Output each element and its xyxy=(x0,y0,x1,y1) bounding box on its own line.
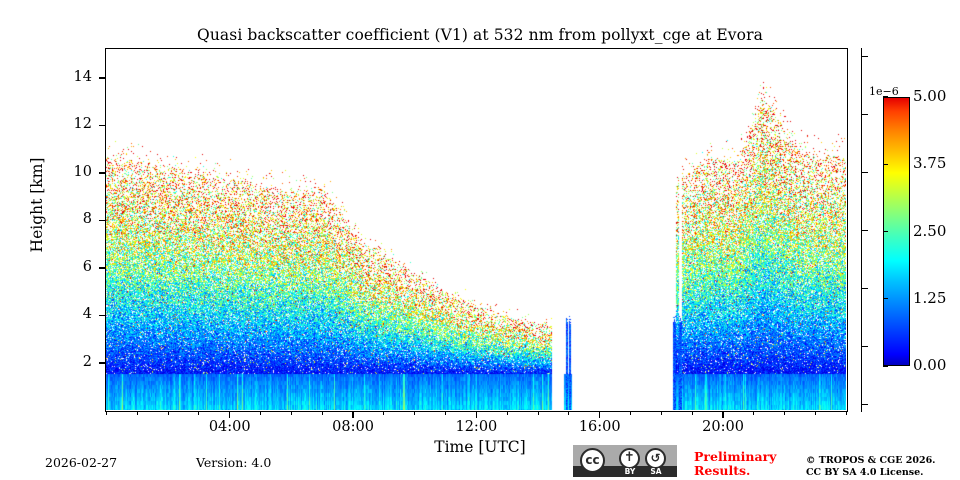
x-tick-minor xyxy=(661,411,662,415)
y-tick-major xyxy=(99,315,106,316)
x-tick-minor xyxy=(383,411,384,415)
colorbar-tick xyxy=(883,96,888,97)
y-tick-label: 4 xyxy=(52,306,92,322)
colorbar-outer-tick xyxy=(861,288,868,289)
x-tick-minor xyxy=(137,411,138,415)
y-tick-label: 8 xyxy=(52,211,92,227)
x-tick-major xyxy=(229,411,230,418)
x-tick-label: 16:00 xyxy=(560,419,640,435)
preliminary-results-note: Preliminary Results. xyxy=(694,450,814,477)
x-tick-minor xyxy=(692,411,693,415)
y-tick-label: 6 xyxy=(52,259,92,275)
colorbar-outer-tick xyxy=(861,56,868,57)
x-tick-label: 08:00 xyxy=(313,419,393,435)
colorbar-tick-label: 3.75 xyxy=(913,154,960,172)
cc-by-label: BY xyxy=(618,466,642,477)
x-tick-minor xyxy=(168,411,169,415)
copyright-note: © TROPOS & CGE 2026. CC BY SA 4.0 Licens… xyxy=(806,455,956,479)
colorbar-tick xyxy=(883,164,888,165)
footer-version: Version: 4.0 xyxy=(196,455,271,470)
x-tick-major xyxy=(476,411,477,418)
x-tick-minor xyxy=(846,411,847,415)
y-tick-label: 14 xyxy=(52,69,92,85)
x-tick-minor xyxy=(445,411,446,415)
x-tick-minor xyxy=(291,411,292,415)
colorbar-outer-tick xyxy=(861,404,868,405)
x-tick-minor xyxy=(630,411,631,415)
x-tick-major xyxy=(352,411,353,418)
x-tick-minor xyxy=(538,411,539,415)
x-tick-label: 04:00 xyxy=(190,419,270,435)
colorbar-tick-label: 2.50 xyxy=(913,222,960,240)
x-tick-minor xyxy=(784,411,785,415)
colorbar-tick-label: 0.00 xyxy=(913,356,960,374)
page-title: Quasi backscatter coefficient (V1) at 53… xyxy=(0,26,960,44)
lidar-data-canvas xyxy=(106,49,846,410)
colorbar-tick xyxy=(883,298,888,299)
cc-icon: cc xyxy=(580,448,605,473)
x-tick-major xyxy=(599,411,600,418)
preliminary-line-2: Results. xyxy=(694,464,814,478)
colorbar-outer-tick xyxy=(861,230,868,231)
x-tick-label: 12:00 xyxy=(436,419,516,435)
colorbar-outer-tick xyxy=(861,172,868,173)
y-tick-major xyxy=(99,77,106,78)
x-tick-minor xyxy=(507,411,508,415)
colorbar-tick xyxy=(883,231,888,232)
quicklook-figure: Quasi backscatter coefficient (V1) at 53… xyxy=(0,0,960,480)
plot-area xyxy=(105,48,848,412)
colorbar-tick-label: 1.25 xyxy=(913,289,960,307)
colorbar-tick-label: 5.00 xyxy=(913,87,960,105)
x-tick-minor xyxy=(106,411,107,415)
y-tick-major xyxy=(99,172,106,173)
colorbar-tick xyxy=(883,365,888,366)
copyright-line-1: © TROPOS & CGE 2026. xyxy=(806,455,956,467)
y-tick-major xyxy=(99,220,106,221)
x-tick-major xyxy=(722,411,723,418)
x-tick-minor xyxy=(322,411,323,415)
footer-date: 2026-02-27 xyxy=(45,455,117,470)
preliminary-line-1: Preliminary xyxy=(694,450,814,464)
y-tick-major xyxy=(99,125,106,126)
colorbar-outer-tick xyxy=(861,114,868,115)
x-tick-minor xyxy=(260,411,261,415)
x-tick-minor xyxy=(815,411,816,415)
x-axis-label: Time [UTC] xyxy=(0,438,960,456)
y-tick-major xyxy=(99,267,106,268)
creative-commons-badge[interactable]: cc ✝ ↺ BY SA xyxy=(573,445,677,477)
y-tick-label: 2 xyxy=(52,354,92,370)
colorbar-outer-tick xyxy=(861,346,868,347)
y-tick-label: 10 xyxy=(52,164,92,180)
x-tick-minor xyxy=(198,411,199,415)
copyright-line-2: CC BY SA 4.0 License. xyxy=(806,467,956,479)
cc-sa-label: SA xyxy=(644,466,668,477)
y-tick-label: 12 xyxy=(52,116,92,132)
y-axis-label: Height [km] xyxy=(28,105,46,305)
x-tick-minor xyxy=(414,411,415,415)
y-tick-major xyxy=(99,362,106,363)
x-tick-label: 20:00 xyxy=(683,419,763,435)
x-tick-minor xyxy=(753,411,754,415)
x-tick-minor xyxy=(568,411,569,415)
